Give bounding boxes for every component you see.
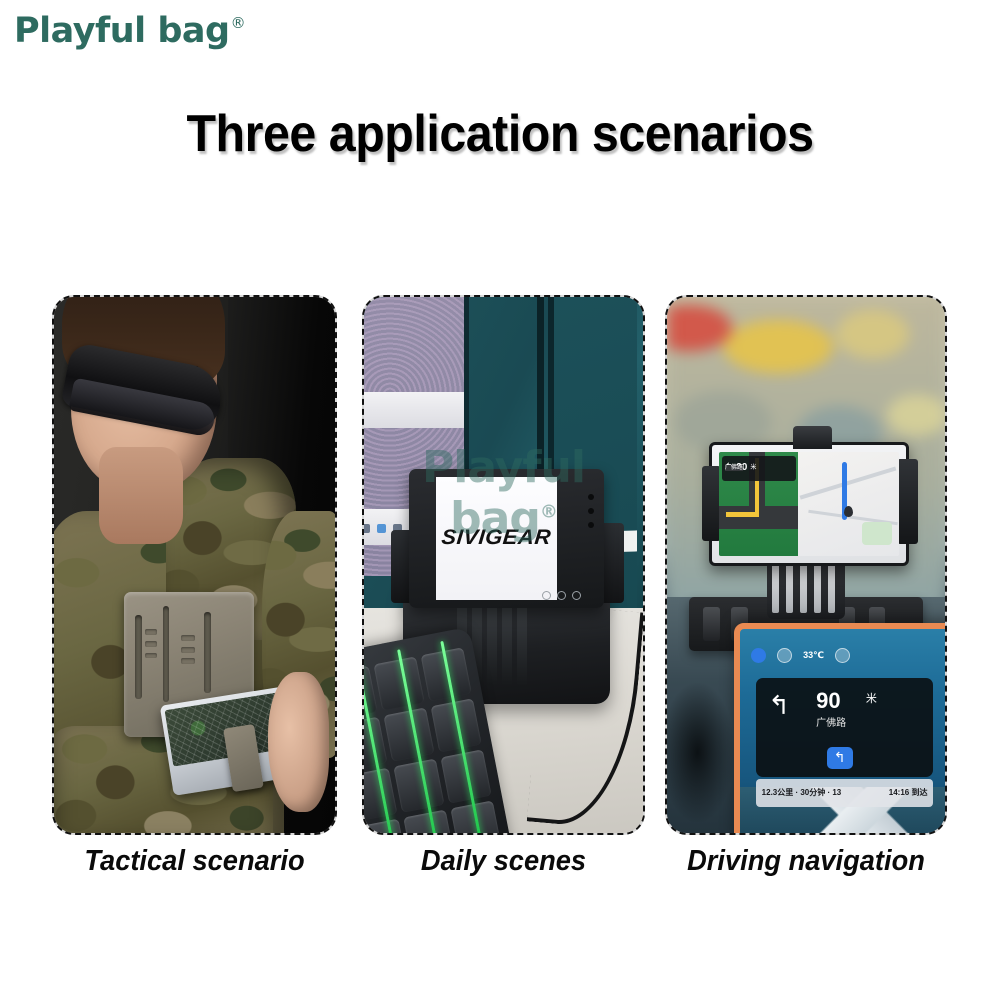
user-avatar-icon: [751, 648, 766, 663]
nav-dot: [557, 591, 566, 600]
caption-tactical: Tactical scenario: [61, 845, 329, 878]
phone-navigation-screen: ↰ 90 米 广佛路: [719, 452, 898, 556]
nav-dot: [542, 591, 551, 600]
sivigear-logo: SIVIGEAR: [441, 526, 553, 550]
map-panel: [798, 452, 898, 556]
tablet-turn-card: ↰ 90 米 广佛路 ↰: [756, 678, 934, 777]
brand-logo: Playful bag ®: [14, 14, 246, 49]
registered-trademark-icon: ®: [231, 16, 246, 31]
key: [383, 707, 434, 761]
fin: [502, 601, 512, 686]
secondary-display: 33℃ ↰ 90 米 广佛路 ↰ 12.3公里 · 30分钟 · 13 14:1…: [734, 623, 945, 833]
phone-turn-banner: ↰ 90 米 广佛路: [722, 456, 796, 481]
mounted-phone: SIVIGEAR: [409, 469, 604, 608]
holder-clamp-right: [897, 459, 918, 544]
page-title: Three application scenarios: [35, 104, 965, 164]
nav-dot: [572, 591, 581, 600]
mount-rib: [145, 641, 157, 647]
mount-rib: [145, 629, 157, 635]
scenario-panel-group: Tactical scenario: [0, 295, 1000, 835]
pad-grip: [703, 607, 719, 641]
panel-frame-daily: SIVIGEAR: [362, 295, 645, 835]
location-icon: [835, 648, 850, 663]
mount-rib: [145, 653, 157, 659]
soldier-neck: [99, 447, 183, 543]
mount-rib: [181, 635, 195, 641]
mount-rib: [181, 658, 195, 664]
taskbar-icon: [377, 524, 386, 533]
key: [364, 818, 407, 833]
mount-slot: [204, 612, 210, 693]
tablet-road-name: 广佛路: [816, 719, 846, 729]
lane-marking: [726, 512, 759, 517]
tablet-trip-bar: 12.3公里 · 30分钟 · 13 14:16 到达: [756, 779, 934, 807]
map-green-area: [862, 522, 892, 545]
photo-driving-navigation: ↰ 90 米 广佛路: [667, 297, 945, 833]
phone-turn-unit: 米: [750, 465, 756, 471]
mount-rib: [181, 647, 195, 653]
mount-slot: [163, 606, 169, 702]
scenario-panel-tactical[interactable]: Tactical scenario: [52, 295, 337, 835]
next-turn-badge-icon: ↰: [827, 747, 853, 769]
scenario-panel-driving[interactable]: ↰ 90 米 广佛路: [665, 295, 947, 835]
fin: [487, 601, 497, 686]
tablet-status-bar: 33℃: [751, 642, 945, 670]
caption-daily: Daily scenes: [370, 845, 636, 878]
map-location-pin-icon: [844, 506, 853, 517]
tablet-turn-distance: 90: [816, 690, 840, 712]
photo-daily-scene: SIVIGEAR: [364, 297, 643, 833]
dashboard-mounted-phone: ↰ 90 米 广佛路: [709, 442, 910, 566]
phone-camera-icon: [588, 494, 594, 500]
trip-summary: 12.3公里 · 30分钟 · 13: [762, 787, 842, 798]
weather-cloud-icon: [777, 648, 792, 663]
dashboard-shadow: [667, 683, 734, 822]
monitor-content-strip: [364, 392, 464, 428]
phone-screen: SIVIGEAR: [436, 477, 557, 600]
brand-name: Playful bag: [14, 14, 230, 49]
scenario-panel-daily[interactable]: SIVIGEAR: [362, 295, 645, 835]
key: [373, 656, 424, 710]
turn-left-arrow-icon: ↰: [768, 692, 790, 718]
phone-road-name: 广佛路: [725, 465, 743, 471]
photo-tactical-scenario: [54, 297, 335, 833]
holder-clamp-top: [793, 426, 832, 450]
mount-slot: [135, 615, 143, 699]
taskbar-icon: [364, 524, 370, 533]
lane-guidance-panel: ↰ 90 米 广佛路: [719, 452, 798, 556]
key: [393, 758, 444, 812]
fin: [517, 601, 527, 686]
arrival-time: 14:16 到达: [889, 787, 928, 798]
tablet-turn-unit: 米: [866, 694, 877, 705]
caption-driving: Driving navigation: [673, 845, 938, 878]
panel-frame-driving: ↰ 90 米 广佛路: [665, 295, 947, 835]
map-street: [800, 466, 897, 499]
soldier-hand: [268, 672, 330, 811]
temperature-value: 33℃: [803, 650, 824, 661]
panel-frame-tactical: [52, 295, 337, 835]
screen-nav-dots: [542, 591, 581, 600]
